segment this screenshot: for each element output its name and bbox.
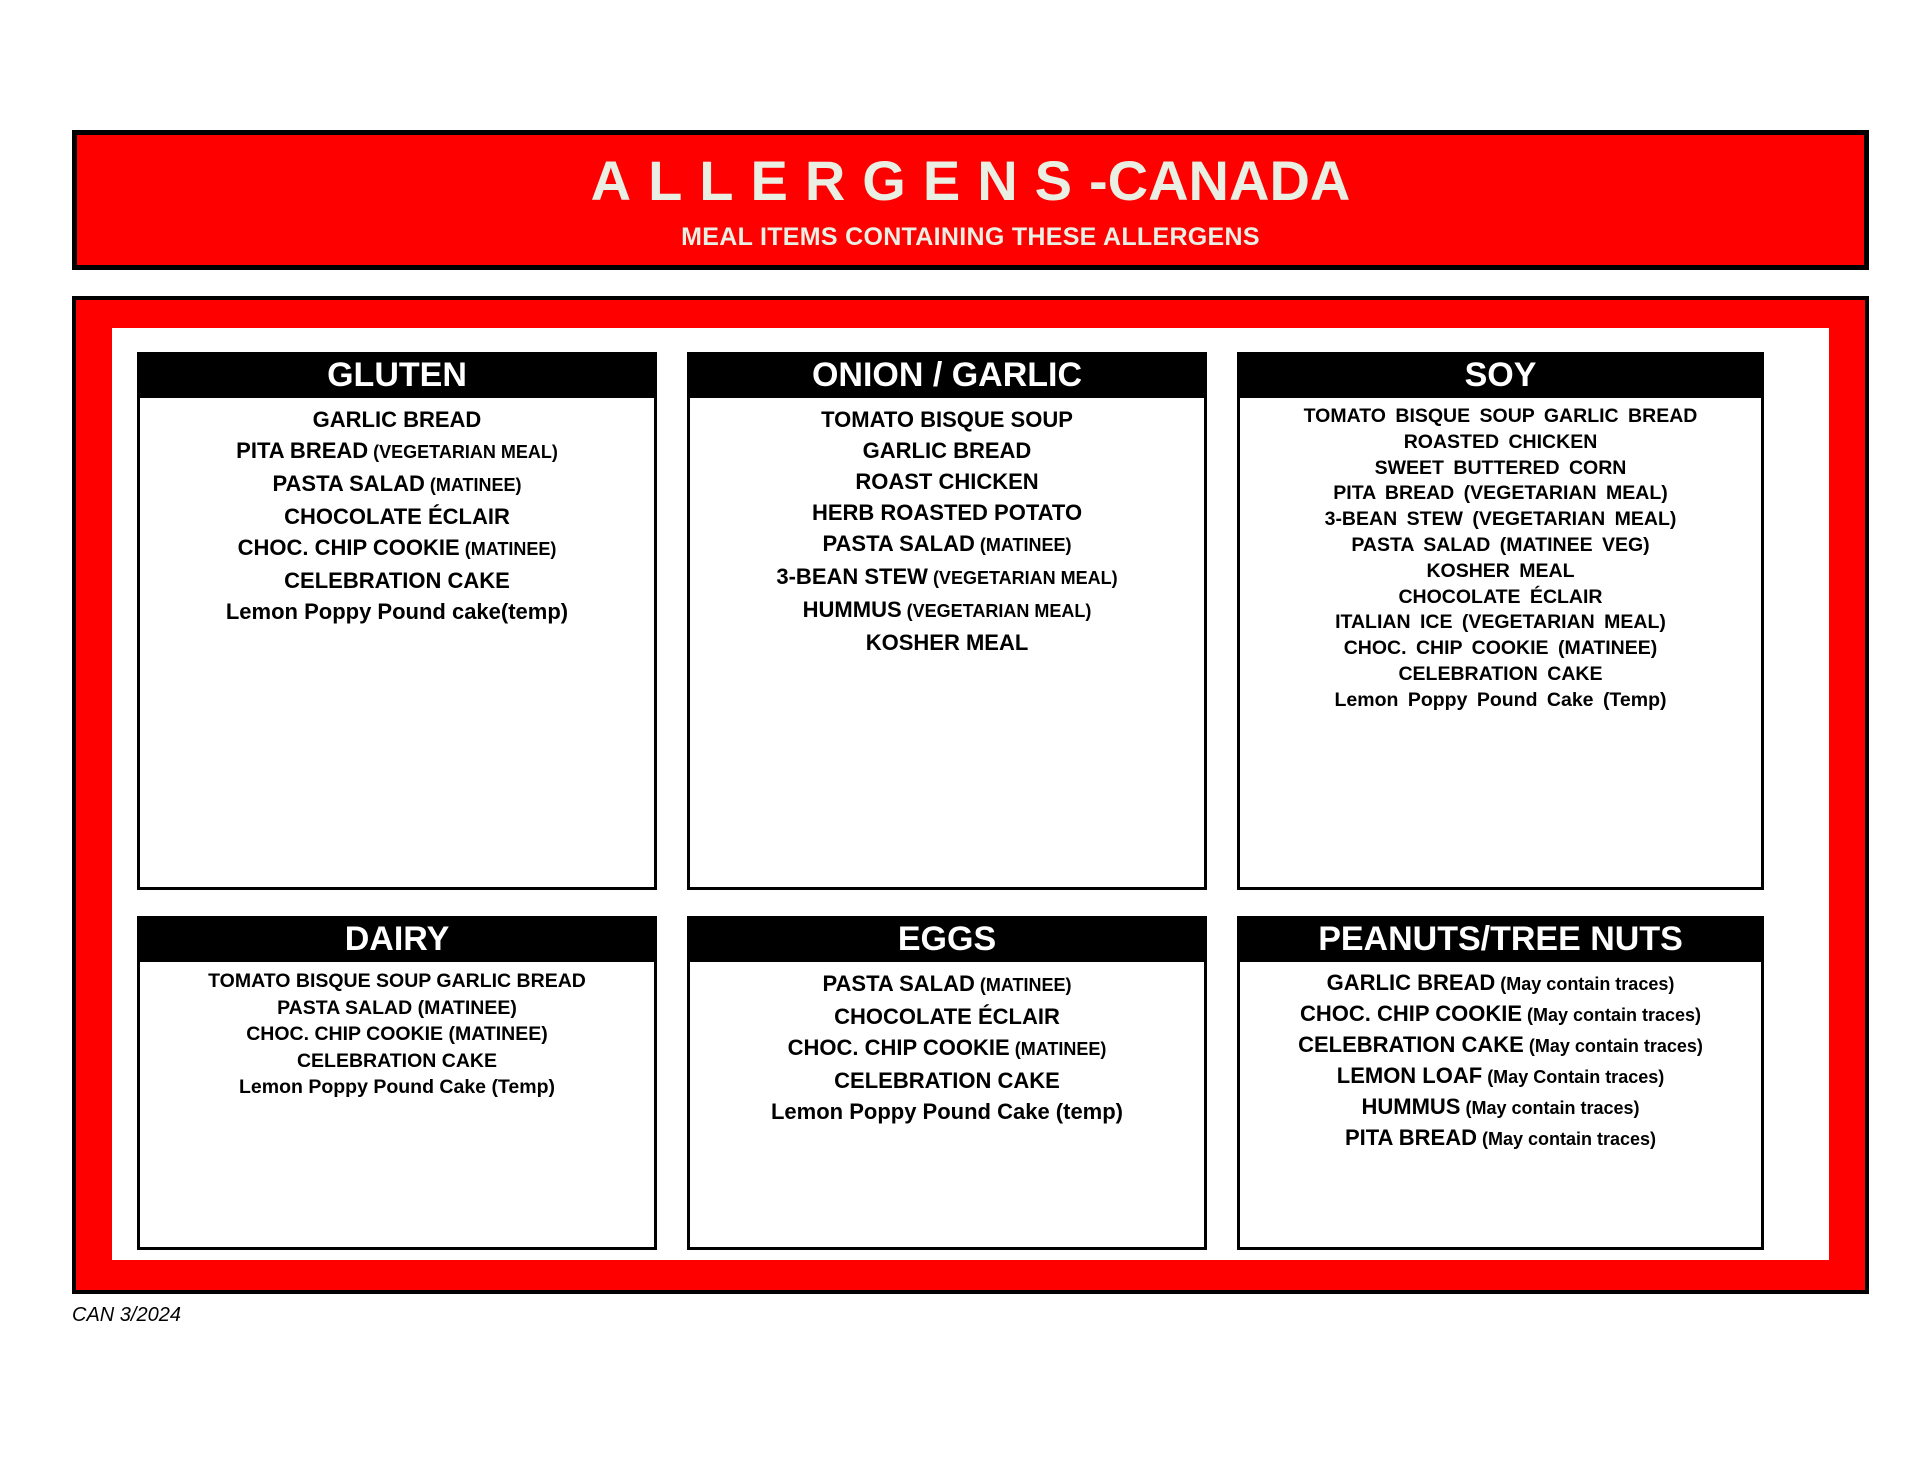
panel-eggs-items: PASTA SALAD (MATINEE)CHOCOLATE ÉCLAIRCHO…	[687, 962, 1207, 1250]
list-item: CELEBRATION CAKE	[696, 1065, 1198, 1096]
list-item: CHOC. CHIP COOKIE (MATINEE)	[1246, 636, 1755, 662]
panel-peanuts-tree-nuts: PEANUTS/TREE NUTS GARLIC BREAD (May cont…	[1237, 916, 1764, 1250]
list-item: PASTA SALAD (MATINEE)	[696, 968, 1198, 1001]
list-item: 3-BEAN STEW (VEGETARIAN MEAL)	[1246, 507, 1755, 533]
item-name: CHOC. CHIP COOKIE (MATINEE)	[246, 1023, 548, 1045]
item-qualifier: (May contain traces)	[1495, 974, 1674, 994]
list-item: LEMON LOAF (May Contain traces)	[1246, 1061, 1755, 1092]
list-item: CHOCOLATE ÉCLAIR	[1246, 585, 1755, 611]
list-item: TOMATO BISQUE SOUP	[696, 404, 1198, 435]
list-item: GARLIC BREAD	[696, 435, 1198, 466]
item-qualifier: (May Contain traces)	[1482, 1067, 1664, 1087]
item-name: PASTA SALAD	[822, 971, 974, 996]
item-qualifier: (MATINEE)	[975, 535, 1072, 555]
item-name: CELEBRATION CAKE	[834, 1068, 1060, 1093]
item-name: PASTA SALAD	[822, 531, 974, 556]
item-name: PITA BREAD	[236, 438, 368, 463]
list-item: Lemon Poppy Pound Cake (Temp)	[146, 1074, 648, 1101]
item-qualifier: (MATINEE)	[975, 975, 1072, 995]
item-name: GARLIC BREAD	[863, 438, 1032, 463]
content-frame-outer: GLUTEN GARLIC BREADPITA BREAD (VEGETARIA…	[72, 296, 1869, 1294]
list-item: CHOC. CHIP COOKIE (MATINEE)	[146, 1021, 648, 1048]
list-item: PASTA SALAD (MATINEE)	[146, 468, 648, 501]
panel-dairy: DAIRY TOMATO BISQUE SOUP GARLIC BREADPAS…	[137, 916, 657, 1250]
list-item: ROAST CHICKEN	[696, 466, 1198, 497]
panel-dairy-items: TOMATO BISQUE SOUP GARLIC BREADPASTA SAL…	[137, 962, 657, 1250]
item-name: PASTA SALAD	[272, 471, 424, 496]
item-qualifier: (MATINEE)	[1010, 1039, 1107, 1059]
list-item: PITA BREAD (VEGETARIAN MEAL)	[146, 435, 648, 468]
list-item: PITA BREAD (May contain traces)	[1246, 1123, 1755, 1154]
panel-soy-items: TOMATO BISQUE SOUP GARLIC BREADROASTED C…	[1237, 398, 1764, 890]
list-item: Lemon Poppy Pound cake(temp)	[146, 596, 648, 627]
item-qualifier: (May contain traces)	[1460, 1098, 1639, 1118]
list-item: PASTA SALAD (MATINEE)	[696, 528, 1198, 561]
item-name: PASTA SALAD (MATINEE)	[277, 997, 517, 1019]
list-item: 3-BEAN STEW (VEGETARIAN MEAL)	[696, 561, 1198, 594]
item-name: Lemon Poppy Pound Cake (temp)	[771, 1099, 1123, 1124]
panel-peanuts-tree-nuts-items: GARLIC BREAD (May contain traces)CHOC. C…	[1237, 962, 1764, 1250]
panel-onion-garlic-title: ONION / GARLIC	[687, 352, 1207, 398]
panel-dairy-title: DAIRY	[137, 916, 657, 962]
item-name: 3-BEAN STEW	[776, 564, 928, 589]
item-qualifier: (VEGETARIAN MEAL)	[1463, 508, 1676, 530]
item-qualifier: (VEGETARIAN MEAL)	[1454, 482, 1667, 504]
item-name: CELEBRATION CAKE	[297, 1050, 497, 1072]
list-item: HUMMUS (May contain traces)	[1246, 1092, 1755, 1123]
panel-soy-title: SOY	[1237, 352, 1764, 398]
item-name: CHOCOLATE ÉCLAIR	[834, 1004, 1060, 1029]
item-name: CELEBRATION CAKE	[1398, 663, 1602, 685]
item-name: CHOCOLATE ÉCLAIR	[284, 504, 510, 529]
list-item: CELEBRATION CAKE	[146, 565, 648, 596]
allergen-poster: ALLERGENS-CANADA MEAL ITEMS CONTAINING T…	[0, 0, 1920, 1484]
item-name: ROAST CHICKEN	[855, 469, 1038, 494]
title-separator: -	[1089, 149, 1108, 212]
list-item: ROASTED CHICKEN	[1246, 430, 1755, 456]
list-item: TOMATO BISQUE SOUP GARLIC BREAD	[146, 968, 648, 995]
list-item: CELEBRATION CAKE (May contain traces)	[1246, 1030, 1755, 1061]
panel-eggs-title: EGGS	[687, 916, 1207, 962]
list-item: KOSHER MEAL	[696, 627, 1198, 658]
content-frame-inner: GLUTEN GARLIC BREADPITA BREAD (VEGETARIA…	[112, 328, 1829, 1260]
item-name: CHOC. CHIP COOKIE	[1300, 1001, 1522, 1026]
list-item: ITALIAN ICE (VEGETARIAN MEAL)	[1246, 610, 1755, 636]
panel-peanuts-tree-nuts-title: PEANUTS/TREE NUTS	[1237, 916, 1764, 962]
panel-gluten-items: GARLIC BREADPITA BREAD (VEGETARIAN MEAL)…	[137, 398, 657, 890]
page-title: ALLERGENS-CANADA	[591, 153, 1351, 209]
item-name: KOSHER MEAL	[866, 630, 1029, 655]
item-qualifier: (MATINEE)	[425, 475, 522, 495]
item-name: CHOCOLATE ÉCLAIR	[1398, 586, 1602, 608]
item-name: SWEET BUTTERED CORN	[1375, 457, 1627, 479]
panel-eggs: EGGS PASTA SALAD (MATINEE)CHOCOLATE ÉCLA…	[687, 916, 1207, 1250]
item-name: PITA BREAD	[1345, 1125, 1477, 1150]
panel-gluten: GLUTEN GARLIC BREADPITA BREAD (VEGETARIA…	[137, 352, 657, 890]
allergen-panel-grid: GLUTEN GARLIC BREADPITA BREAD (VEGETARIA…	[112, 328, 1829, 1260]
item-qualifier: (MATINEE)	[1549, 637, 1658, 659]
item-name: Lemon Poppy Pound cake(temp)	[226, 599, 568, 624]
list-item: Lemon Poppy Pound Cake (Temp)	[1246, 688, 1755, 714]
footer-revision-note: CAN 3/2024	[72, 1304, 181, 1327]
item-name: Lemon Poppy Pound Cake (Temp)	[1335, 689, 1667, 711]
list-item: PITA BREAD (VEGETARIAN MEAL)	[1246, 481, 1755, 507]
title-allergens: ALLERGENS	[591, 149, 1089, 212]
list-item: HERB ROASTED POTATO	[696, 497, 1198, 528]
item-qualifier: (VEGETARIAN MEAL)	[368, 442, 558, 462]
list-item: CHOC. CHIP COOKIE (MATINEE)	[146, 532, 648, 565]
list-item: CELEBRATION CAKE	[146, 1048, 648, 1075]
list-item: GARLIC BREAD (May contain traces)	[1246, 968, 1755, 999]
list-item: SWEET BUTTERED CORN	[1246, 456, 1755, 482]
item-qualifier: (MATINEE)	[460, 539, 557, 559]
item-name: HERB ROASTED POTATO	[812, 500, 1082, 525]
list-item: Lemon Poppy Pound Cake (temp)	[696, 1096, 1198, 1127]
item-name: 3-BEAN STEW	[1325, 508, 1463, 530]
item-name: TOMATO BISQUE SOUP GARLIC BREAD	[1304, 405, 1698, 427]
item-name: LEMON LOAF	[1337, 1063, 1482, 1088]
list-item: TOMATO BISQUE SOUP GARLIC BREAD	[1246, 404, 1755, 430]
item-name: ROASTED CHICKEN	[1404, 431, 1598, 453]
item-name: TOMATO BISQUE SOUP GARLIC BREAD	[208, 970, 586, 992]
list-item: GARLIC BREAD	[146, 404, 648, 435]
item-name: HUMMUS	[1361, 1094, 1460, 1119]
item-qualifier: (May contain traces)	[1524, 1036, 1703, 1056]
item-name: TOMATO BISQUE SOUP	[821, 407, 1073, 432]
item-qualifier: (May contain traces)	[1477, 1129, 1656, 1149]
list-item: KOSHER MEAL	[1246, 559, 1755, 585]
item-name: KOSHER MEAL	[1426, 560, 1574, 582]
item-name: CHOC. CHIP COOKIE	[1344, 637, 1549, 659]
list-item: PASTA SALAD (MATINEE)	[146, 995, 648, 1022]
item-name: GARLIC BREAD	[313, 407, 482, 432]
list-item: CELEBRATION CAKE	[1246, 662, 1755, 688]
item-qualifier: (VEGETARIAN MEAL)	[928, 568, 1118, 588]
list-item: HUMMUS (VEGETARIAN MEAL)	[696, 594, 1198, 627]
panel-onion-garlic-items: TOMATO BISQUE SOUPGARLIC BREADROAST CHIC…	[687, 398, 1207, 890]
list-item: CHOC. CHIP COOKIE (May contain traces)	[1246, 999, 1755, 1030]
list-item: CHOCOLATE ÉCLAIR	[696, 1001, 1198, 1032]
page-subtitle: MEAL ITEMS CONTAINING THESE ALLERGENS	[681, 223, 1260, 252]
item-qualifier: (MATINEE VEG)	[1490, 534, 1649, 556]
item-name: ITALIAN ICE	[1335, 611, 1452, 633]
item-name: CELEBRATION CAKE	[1298, 1032, 1524, 1057]
header-banner: ALLERGENS-CANADA MEAL ITEMS CONTAINING T…	[72, 130, 1869, 270]
item-name: CELEBRATION CAKE	[284, 568, 510, 593]
item-name: HUMMUS	[803, 597, 902, 622]
item-name: PITA BREAD	[1333, 482, 1454, 504]
item-name: CHOC. CHIP COOKIE	[238, 535, 460, 560]
list-item: PASTA SALAD (MATINEE VEG)	[1246, 533, 1755, 559]
panel-onion-garlic: ONION / GARLIC TOMATO BISQUE SOUPGARLIC …	[687, 352, 1207, 890]
item-name: GARLIC BREAD	[1327, 970, 1496, 995]
title-canada: CANADA	[1108, 149, 1351, 212]
item-name: Lemon Poppy Pound Cake (Temp)	[239, 1076, 555, 1098]
panel-gluten-title: GLUTEN	[137, 352, 657, 398]
item-qualifier: (VEGETARIAN MEAL)	[1452, 611, 1665, 633]
list-item: CHOCOLATE ÉCLAIR	[146, 501, 648, 532]
item-qualifier: (May contain traces)	[1522, 1005, 1701, 1025]
list-item: CHOC. CHIP COOKIE (MATINEE)	[696, 1032, 1198, 1065]
item-name: CHOC. CHIP COOKIE	[788, 1035, 1010, 1060]
panel-soy: SOY TOMATO BISQUE SOUP GARLIC BREADROAST…	[1237, 352, 1764, 890]
item-qualifier: (VEGETARIAN MEAL)	[902, 601, 1092, 621]
item-name: PASTA SALAD	[1351, 534, 1490, 556]
